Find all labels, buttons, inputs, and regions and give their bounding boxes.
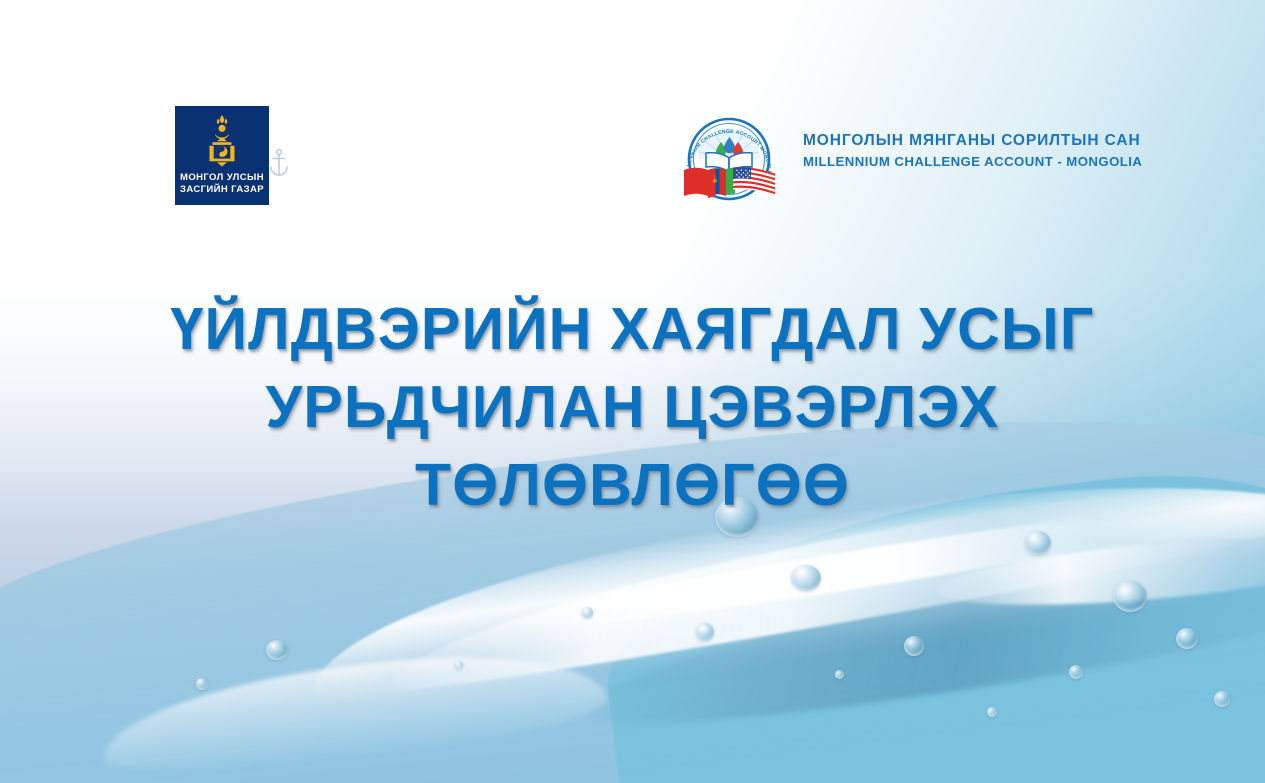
soyombo-icon: [201, 115, 243, 169]
water-splash-image: [0, 363, 1265, 783]
mca-title-mn: МОНГОЛЫН МЯНГАНЫ СОРИЛТЫН САН: [803, 133, 1142, 149]
mca-title-en: MILLENNIUM CHALLENGE ACCOUNT - MONGOLIA: [803, 155, 1142, 168]
presentation-slide: МОНГОЛ УЛСЫН ЗАСГИЙН ГАЗАР: [0, 0, 1265, 783]
mca-mongolia-wordmark: МОНГОЛЫН МЯНГАНЫ СОРИЛТЫН САН MILLENNIUM…: [803, 133, 1142, 168]
government-logo-label: МОНГОЛ УЛСЫН ЗАСГИЙН ГАЗАР: [180, 172, 264, 196]
mca-mongolia-emblem-icon: MILLENNIUM CHALLENGE ACCOUNT MONGOLIA: [676, 112, 782, 206]
watermark-icon: [268, 148, 290, 178]
government-of-mongolia-logo: МОНГОЛ УЛСЫН ЗАСГИЙН ГАЗАР: [175, 106, 269, 205]
